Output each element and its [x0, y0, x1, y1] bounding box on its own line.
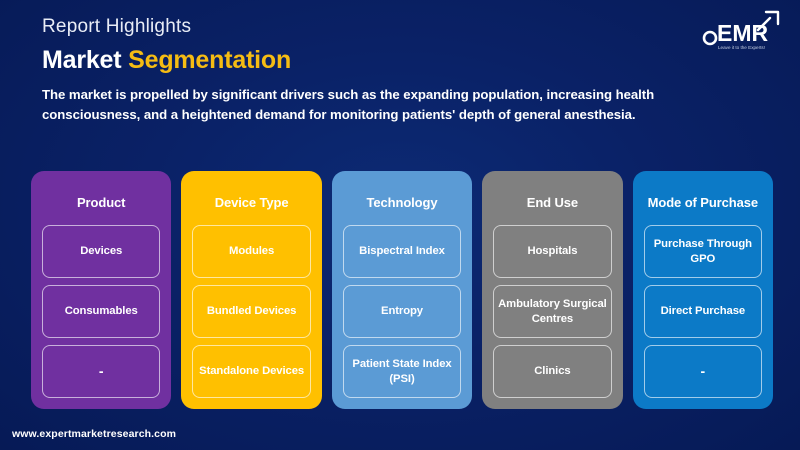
segment-item-list: Devices Consumables - [42, 225, 160, 398]
segment-item[interactable]: Hospitals [493, 225, 611, 278]
segment-column-title: Product [42, 181, 160, 225]
page-title-primary: Market [42, 46, 121, 74]
segment-column-technology[interactable]: Technology Bispectral Index Entropy Pati… [332, 171, 472, 409]
segment-item-list: Bispectral Index Entropy Patient State I… [343, 225, 461, 398]
page-title-accent: Segmentation [128, 46, 291, 74]
segment-column-title: End Use [493, 181, 611, 225]
segment-column-title: Technology [343, 181, 461, 225]
segment-item[interactable]: Modules [192, 225, 310, 278]
segment-item-list: Purchase Through GPO Direct Purchase - [644, 225, 762, 398]
segment-item[interactable]: Patient State Index (PSI) [343, 345, 461, 398]
segment-column-title: Device Type [192, 181, 310, 225]
segment-item[interactable]: - [42, 345, 160, 398]
emr-logo: EMR Leave it to the Experts! [700, 8, 786, 52]
segmentation-columns: Product Devices Consumables - Device Typ… [31, 171, 773, 409]
segment-item[interactable]: Ambulatory Surgical Centres [493, 285, 611, 338]
page-description: The market is propelled by significant d… [42, 85, 742, 125]
segment-item[interactable]: - [644, 345, 762, 398]
page-title: Market Segmentation [42, 46, 768, 75]
segment-column-product[interactable]: Product Devices Consumables - [31, 171, 171, 409]
segment-item[interactable]: Consumables [42, 285, 160, 338]
eyebrow-label: Report Highlights [42, 16, 768, 39]
segment-item[interactable]: Purchase Through GPO [644, 225, 762, 278]
segment-item-list: Hospitals Ambulatory Surgical Centres Cl… [493, 225, 611, 398]
page-header: Report Highlights Market Segmentation Th… [0, 0, 800, 125]
segment-item[interactable]: Entropy [343, 285, 461, 338]
segment-item[interactable]: Bispectral Index [343, 225, 461, 278]
segment-column-device-type[interactable]: Device Type Modules Bundled Devices Stan… [181, 171, 321, 409]
segment-item[interactable]: Direct Purchase [644, 285, 762, 338]
segment-item[interactable]: Bundled Devices [192, 285, 310, 338]
logo-wordmark: EMR [717, 20, 769, 46]
segment-column-mode-of-purchase[interactable]: Mode of Purchase Purchase Through GPO Di… [633, 171, 773, 409]
segment-column-end-use[interactable]: End Use Hospitals Ambulatory Surgical Ce… [482, 171, 622, 409]
segment-column-title: Mode of Purchase [644, 181, 762, 225]
segment-item[interactable]: Devices [42, 225, 160, 278]
footer-website[interactable]: www.expertmarketresearch.com [12, 428, 176, 440]
segment-item-list: Modules Bundled Devices Standalone Devic… [192, 225, 310, 398]
segment-item[interactable]: Clinics [493, 345, 611, 398]
segment-item[interactable]: Standalone Devices [192, 345, 310, 398]
logo-circle-icon [704, 32, 716, 44]
logo-tagline: Leave it to the Experts! [718, 45, 765, 50]
